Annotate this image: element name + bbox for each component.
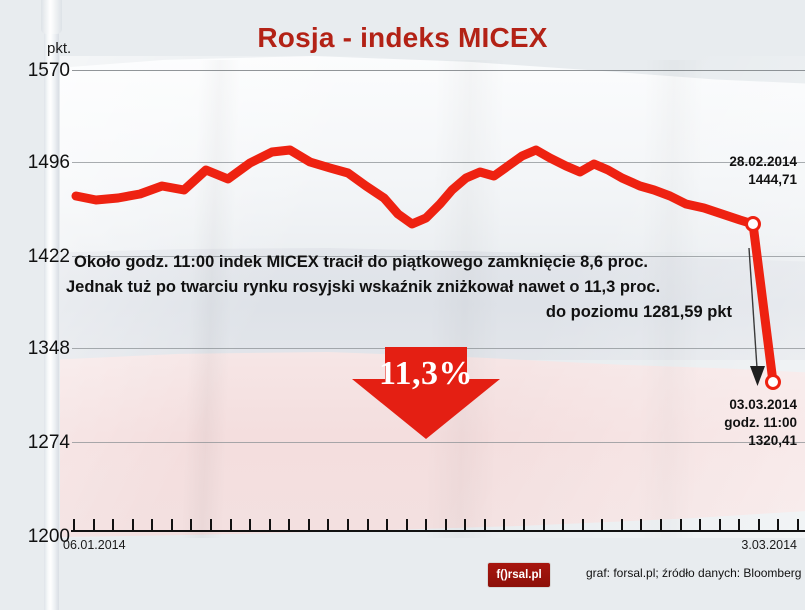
- commentary-text-block: Około godz. 11:00 indek MICEX tracił do …: [66, 250, 738, 325]
- x-axis-tick: [640, 519, 642, 531]
- x-axis-tick: [464, 519, 466, 531]
- gridline-1496: [72, 162, 805, 163]
- annotation-current-03-03: 03.03.2014 godz. 11:00 1320,41: [724, 396, 797, 451]
- x-axis-tick: [484, 519, 486, 531]
- flag-pole: [44, 0, 59, 610]
- x-axis-tick: [601, 519, 603, 531]
- annotation-close-28-02: 28.02.2014 1444,71: [729, 153, 797, 189]
- x-axis-tick: [562, 519, 564, 531]
- x-axis-tick: [347, 519, 349, 531]
- annotation-bottom-date: 03.03.2014: [724, 396, 797, 414]
- x-axis-tick: [523, 519, 525, 531]
- x-axis-tick: [738, 519, 740, 531]
- infographic-chart: Rosja - indeks MICEX pkt. 1570 1496 1422…: [0, 0, 805, 610]
- x-axis-tick: [308, 519, 310, 531]
- x-axis-tick: [582, 519, 584, 531]
- x-axis-tick: [327, 519, 329, 531]
- x-axis-tick: [190, 519, 192, 531]
- x-axis-tick: [93, 519, 95, 531]
- x-axis-end-label: 3.03.2014: [741, 538, 797, 552]
- x-axis-tick: [367, 519, 369, 531]
- source-credit: graf: forsal.pl; źródło danych: Bloomber…: [586, 566, 801, 580]
- x-axis-tick: [445, 519, 447, 531]
- commentary-line-3: do poziomu 1281,59 pkt: [66, 300, 738, 325]
- x-axis-tick: [230, 519, 232, 531]
- x-axis-tick: [406, 519, 408, 531]
- drop-percentage-badge: 11,3%: [352, 347, 500, 439]
- y-axis-unit-label: pkt.: [47, 40, 71, 57]
- x-axis-tick: [151, 519, 153, 531]
- x-axis-tick: [621, 519, 623, 531]
- commentary-line-2: Jednak tuż po twarciu rynku rosyjski wsk…: [66, 275, 738, 300]
- x-axis-tick: [699, 519, 701, 531]
- x-axis-tick: [425, 519, 427, 531]
- x-axis-tick: [171, 519, 173, 531]
- y-tick-label-1348: 1348: [6, 338, 70, 360]
- y-tick-label-1422: 1422: [6, 246, 70, 268]
- forsal-logo[interactable]: f()rsal.pl: [487, 562, 551, 588]
- x-axis-tick: [112, 519, 114, 531]
- x-axis-tick: [543, 519, 545, 531]
- x-axis-tick: [758, 519, 760, 531]
- annotation-top-value: 1444,71: [729, 171, 797, 189]
- gridline-1274: [72, 442, 805, 443]
- x-axis-line: [71, 530, 805, 532]
- x-axis-tick: [777, 519, 779, 531]
- annotation-bottom-value: 1320,41: [724, 432, 797, 450]
- y-tick-label-1496: 1496: [6, 152, 70, 174]
- x-axis-tick: [73, 519, 75, 531]
- gridline-1570: [72, 70, 805, 71]
- x-axis-tick: [660, 519, 662, 531]
- x-axis-tick: [269, 519, 271, 531]
- x-axis-tick: [797, 519, 799, 531]
- x-axis-start-label: 06.01.2014: [63, 538, 126, 552]
- x-axis-tick: [680, 519, 682, 531]
- y-tick-label-1274: 1274: [6, 432, 70, 454]
- page-title: Rosja - indeks MICEX: [0, 22, 805, 54]
- x-axis-tick: [503, 519, 505, 531]
- x-axis-tick: [210, 519, 212, 531]
- y-tick-label-1570: 1570: [6, 60, 70, 82]
- x-axis-tick: [132, 519, 134, 531]
- x-axis-tick: [719, 519, 721, 531]
- drop-percentage-label: 11,3%: [352, 355, 500, 393]
- x-axis-tick: [386, 519, 388, 531]
- commentary-line-1: Około godz. 11:00 indek MICEX tracił do …: [66, 250, 738, 275]
- x-axis-tick: [249, 519, 251, 531]
- annotation-top-date: 28.02.2014: [729, 153, 797, 171]
- y-tick-label-1200: 1200: [6, 526, 70, 548]
- annotation-bottom-time: godz. 11:00: [724, 414, 797, 432]
- x-axis-tick: [288, 519, 290, 531]
